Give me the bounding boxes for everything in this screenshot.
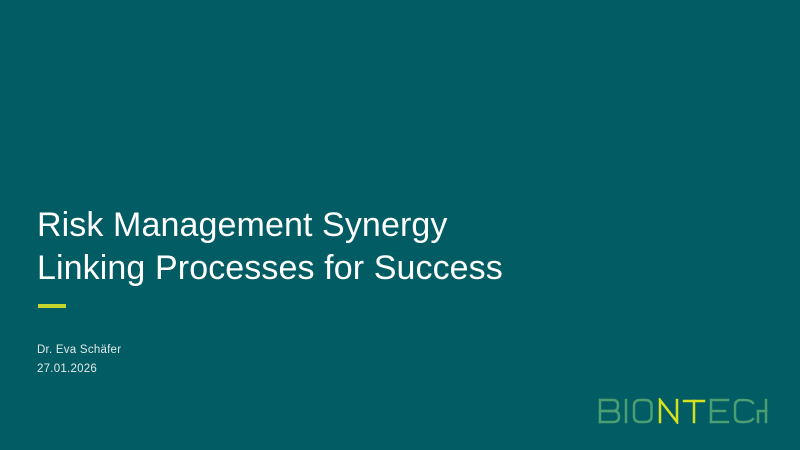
logo-letter-t (684, 401, 704, 422)
logo-letter-e (711, 400, 728, 422)
title-line-2: Linking Processes for Success (37, 247, 657, 290)
byline: Dr. Eva Schäfer 27.01.2026 (37, 341, 121, 379)
title-line-1: Risk Management Synergy (37, 204, 657, 247)
title-slide: Risk Management Synergy Linking Processe… (0, 0, 800, 450)
logo-letter-n (660, 400, 677, 422)
logo-letter-b (600, 400, 619, 422)
page-title: Risk Management Synergy Linking Processe… (37, 204, 657, 290)
logo-letter-h (758, 400, 766, 422)
accent-rule (38, 304, 66, 308)
biontech-logo-mark (598, 398, 768, 424)
logo-letter-o (634, 400, 652, 422)
presentation-date: 27.01.2026 (37, 360, 121, 379)
biontech-logo (598, 398, 768, 424)
logo-letter-c (735, 400, 753, 422)
author-name: Dr. Eva Schäfer (37, 341, 121, 360)
